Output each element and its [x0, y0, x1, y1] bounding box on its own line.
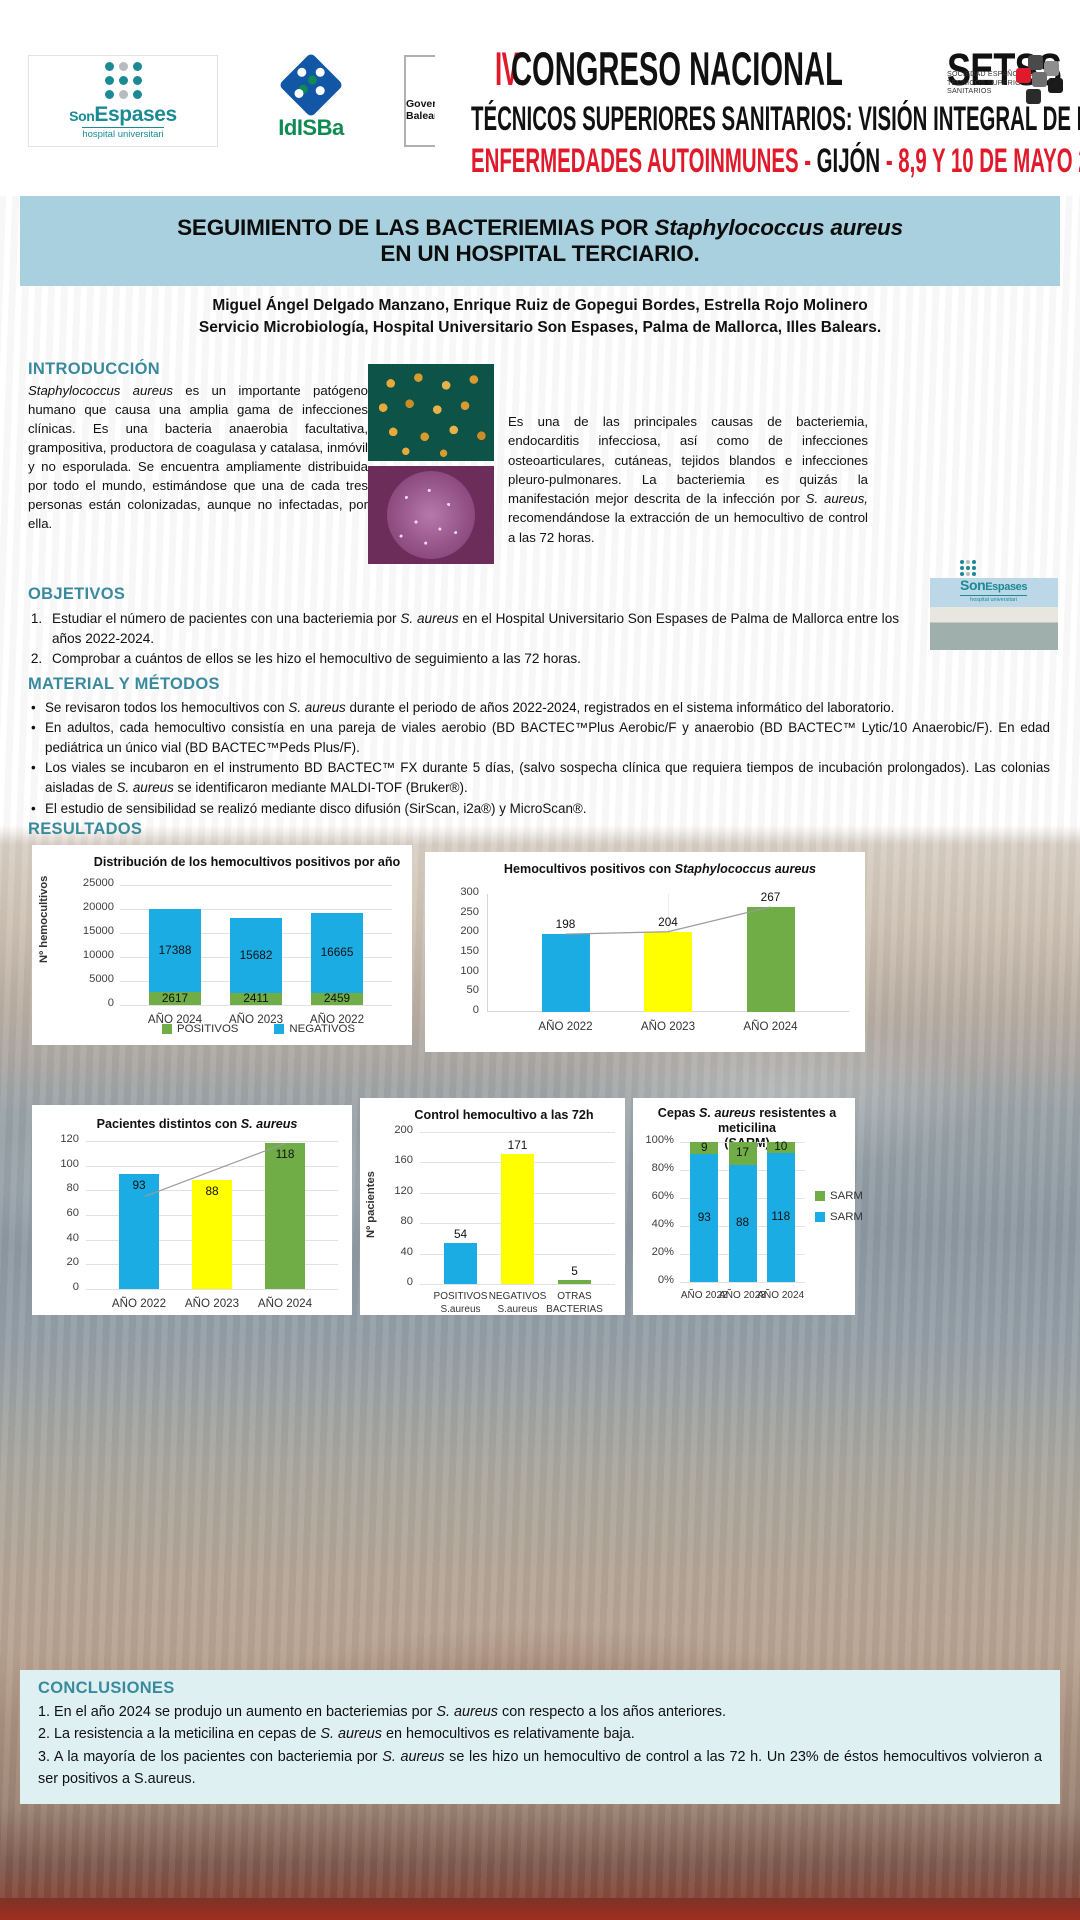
congress-city: GIJÓN	[817, 142, 880, 180]
chart5-xtick: AÑO 2024	[755, 1290, 807, 1301]
logo-son-espases: SonEspases hospital universitari	[28, 55, 218, 147]
chart5-value-sarm: 10	[767, 1139, 795, 1153]
chart5-value-sensible: 88	[729, 1215, 757, 1229]
page-title-line1: SEGUIMIENTO DE LAS BACTERIEMIAS POR Stap…	[177, 215, 903, 241]
idisba-wordmark: IdISBa	[278, 115, 343, 141]
chart5-bar-sensible: 118	[767, 1153, 795, 1282]
chart5-bar-sarm: 17	[729, 1142, 757, 1165]
congress-dates: - 8,9 Y 10 DE MAYO 2025	[880, 142, 1080, 180]
chart4-ytick: 0	[379, 1276, 413, 1288]
section-objetivos: OBJETIVOS Estudiar el número de paciente…	[28, 585, 928, 669]
conclusiones-list: 1. En el año 2024 se produjo un aumento …	[38, 1701, 1042, 1790]
material-item-4: El estudio de sensibilidad se realizó me…	[28, 799, 1050, 819]
chart5-bar-sensible: 93	[690, 1154, 718, 1282]
chart1-bar-negativos: 17388	[149, 909, 201, 992]
chart-cepas-sarm: Cepas S. aureus resistentes a meticilina…	[633, 1098, 855, 1315]
chart3-xtick: AÑO 2022	[103, 1297, 175, 1310]
chart1-value-positivos: 2617	[149, 991, 201, 1005]
authors-block: Miguel Ángel Delgado Manzano, Enrique Ru…	[20, 295, 1060, 340]
chart3-gridline	[86, 1289, 338, 1290]
congress-banner: IV CONGRESO NACIONAL SETSS SOCIEDAD ESPA…	[435, 25, 1080, 196]
chart5-ytick: 0%	[634, 1274, 674, 1286]
chart1-bar-positivos: 2459	[311, 993, 363, 1005]
chart1-ytick: 0	[54, 997, 114, 1009]
chart4-gridline	[420, 1284, 615, 1285]
material-item-3: Los viales se incubaron en el instrument…	[28, 758, 1050, 798]
author-affiliation: Servicio Microbiología, Hospital Univers…	[20, 317, 1060, 339]
chart-pacientes-distintos: Pacientes distintos con S. aureus 020406…	[32, 1105, 352, 1315]
chart5-value-sarm: 17	[729, 1145, 757, 1159]
chart2-plot: 050100150200250300198AÑO 2022204AÑO 2023…	[487, 894, 849, 1012]
material-list: Se revisaron todos los hemocultivos con …	[28, 698, 1050, 819]
material-item-2: En adultos, cada hemocultivo consistía e…	[28, 718, 1050, 758]
chart-control-hemocultivo-72h: Control hemocultivo a las 72h Nº pacient…	[360, 1098, 625, 1315]
chart2-xtick: AÑO 2022	[526, 1020, 606, 1033]
chart5-bar-sarm: 10	[767, 1142, 795, 1153]
chart4-xtick-line1: POSITIVOS	[428, 1291, 493, 1304]
chart2-xtick: AÑO 2023	[628, 1020, 708, 1033]
chart-hemocultivos-positivos-saureus: Hemocultivos positivos con Staphylococcu…	[425, 852, 865, 1052]
chart1-ytick: 15000	[54, 925, 114, 937]
idisba-diamond-icon	[278, 52, 343, 117]
chart4-value: 171	[491, 1138, 544, 1152]
chart5-legend-sarm-blue: SARM	[815, 1211, 863, 1223]
chart5-ytick: 80%	[634, 1162, 674, 1174]
material-item-1: Se revisaron todos los hemocultivos con …	[28, 698, 1050, 718]
congress-venue-line: ENFERMEDADES AUTOINMUNES - GIJÓN - 8,9 Y…	[435, 142, 822, 181]
introduccion-left-text: Staphylococcus aureus es un importante p…	[28, 381, 368, 533]
chart3-xtick: AÑO 2023	[176, 1297, 248, 1310]
son-espases-dots-icon	[105, 62, 142, 99]
hospital-overlay-wordmark: SonEspases	[960, 578, 1027, 593]
chart3-ytick: 60	[43, 1207, 79, 1219]
chart1-bar-negativos: 15682	[230, 918, 282, 993]
micrograph-staphylococcus-image	[368, 364, 494, 461]
chart1-legend: POSITIVOS NEGATIVOS	[162, 1023, 355, 1035]
chart4-xtick-line2: BACTERIAS	[542, 1304, 607, 1317]
chart2-ytick: 50	[439, 984, 479, 996]
chart1-plot: 0500010000150002000025000261717388AÑO 20…	[120, 885, 392, 1005]
objetivo-item-1: Estudiar el número de pacientes con una …	[46, 609, 928, 649]
chart5-legend-sarm-green: SARM	[815, 1190, 863, 1202]
objetivos-list: Estudiar el número de pacientes con una …	[46, 609, 928, 669]
petri-dish	[387, 471, 475, 559]
chart1-value-negativos: 16665	[311, 945, 363, 959]
congress-headline-row: IV CONGRESO NACIONAL SETSS SOCIEDAD ESPA…	[435, 25, 1080, 96]
section-material-metodos: MATERIAL Y MÉTODOS Se revisaron todos lo…	[28, 675, 1050, 819]
chart2-trendline	[487, 894, 849, 1012]
chart5-value-sarm: 9	[690, 1140, 718, 1154]
chart5-bar-sensible: 88	[729, 1165, 757, 1282]
chart4-bar	[501, 1154, 534, 1284]
chart3-ytick: 120	[43, 1133, 79, 1145]
chart4-xtick-line2: S.aureus	[428, 1304, 493, 1317]
section-introduccion: INTRODUCCIÓN Staphylococcus aureus es un…	[28, 360, 368, 533]
chart2-ytick: 0	[439, 1004, 479, 1016]
son-espases-word-espases: Espases	[94, 103, 176, 126]
chart4-xtick-line2: S.aureus	[485, 1304, 550, 1317]
section-conclusiones: CONCLUSIONES 1. En el año 2024 se produj…	[20, 1670, 1060, 1804]
chart1-ytick: 25000	[54, 877, 114, 889]
chart2-ytick: 200	[439, 925, 479, 937]
heading-objetivos: OBJETIVOS	[28, 585, 928, 604]
chart1-gridline	[120, 885, 392, 886]
author-names: Miguel Ángel Delgado Manzano, Enrique Ru…	[20, 295, 1060, 317]
chart2-ytick: 250	[439, 906, 479, 918]
chart4-bar	[444, 1243, 477, 1284]
chart1-value-negativos: 15682	[230, 948, 282, 962]
header-band: SonEspases hospital universitari IdISBa …	[0, 0, 1080, 196]
conclusion-item-2: 2. La resistencia a la meticilina en cep…	[38, 1723, 1042, 1745]
chart5-ytick: 60%	[634, 1190, 674, 1202]
introduccion-right-text: Es una de las principales causas de bact…	[508, 412, 868, 547]
congress-name: CONGRESO NACIONAL	[511, 41, 843, 96]
bottom-accent-strip	[0, 1898, 1080, 1920]
chart4-ytick: 40	[379, 1246, 413, 1258]
chart-distribucion-hemocultivos: Distribución de los hemocultivos positiv…	[32, 845, 412, 1045]
chart3-ytick: 40	[43, 1232, 79, 1244]
chart1-ytick: 20000	[54, 901, 114, 913]
chart4-bar	[558, 1280, 591, 1284]
chart4-value: 54	[434, 1227, 487, 1241]
chart1-ytick: 5000	[54, 973, 114, 985]
page-title-line2: EN UN HOSPITAL TERCIARIO.	[380, 241, 699, 267]
son-espases-wordmark: SonEspases	[69, 104, 177, 125]
objetivo-item-2: Comprobar a cuántos de ellos se les hizo…	[46, 649, 928, 669]
heading-material-metodos: MATERIAL Y MÉTODOS	[28, 675, 1050, 694]
son-espases-word-son: Son	[69, 108, 94, 124]
chart3-ytick: 0	[43, 1281, 79, 1293]
chart1-legend-positivos: POSITIVOS	[162, 1023, 238, 1035]
chart1-value-negativos: 17388	[149, 943, 201, 957]
chart1-title: Distribución de los hemocultivos positiv…	[92, 855, 402, 870]
congress-theme-line: TÉCNICOS SUPERIORES SANITARIOS: VISIÓN I…	[435, 100, 822, 139]
chart1-legend-negativos: NEGATIVOS	[274, 1023, 355, 1035]
poster-title-band: SEGUIMIENTO DE LAS BACTERIEMIAS POR Stap…	[20, 196, 1060, 286]
hospital-photo-logo-overlay: SonEspases hospital universitari	[960, 560, 1027, 603]
agar-plate-culture-image	[368, 466, 494, 564]
chart5-ytick: 40%	[634, 1218, 674, 1230]
chart4-ylabel: Nº pacientes	[365, 1171, 377, 1238]
hospital-overlay-subtitle: hospital universitari	[960, 595, 1027, 603]
chart4-plot: 0408012016020054POSITIVOSS.aureus171NEGA…	[420, 1132, 615, 1284]
chart4-xtick: OTRASBACTERIAS	[542, 1291, 607, 1316]
chart1-bar-positivos: 2411	[230, 993, 282, 1005]
chart4-xtick: POSITIVOSS.aureus	[428, 1291, 493, 1316]
chart1-bar-negativos: 16665	[311, 913, 363, 993]
chart1-ylabel: Nº hemocultivos	[38, 876, 50, 963]
chart1-bar-positivos: 2617	[149, 992, 201, 1005]
son-espases-subtitle: hospital universitari	[82, 127, 163, 140]
chart5-legend: SARM SARM	[815, 1190, 863, 1223]
chart5-bar-sarm: 9	[690, 1142, 718, 1154]
heading-introduccion: INTRODUCCIÓN	[28, 360, 368, 379]
chart3-title: Pacientes distintos con S. aureus	[62, 1117, 332, 1132]
chart3-ytick: 80	[43, 1182, 79, 1194]
chart3-ytick: 100	[43, 1158, 79, 1170]
heading-resultados: RESULTADOS	[28, 820, 142, 839]
chart3-trendline	[86, 1141, 338, 1289]
chart4-xtick: NEGATIVOSS.aureus	[485, 1291, 550, 1316]
logo-idisba: IdISBa	[256, 55, 366, 147]
heading-conclusiones: CONCLUSIONES	[38, 1679, 1042, 1698]
chart5-value-sensible: 93	[690, 1210, 718, 1224]
chart4-title: Control hemocultivo a las 72h	[390, 1108, 618, 1123]
conclusion-item-1: 1. En el año 2024 se produjo un aumento …	[38, 1701, 1042, 1723]
chart4-xtick-line1: OTRAS	[542, 1291, 607, 1304]
chart2-xtick: AÑO 2024	[731, 1020, 811, 1033]
chart2-title: Hemocultivos positivos con Staphylococcu…	[475, 862, 845, 877]
chart4-ytick: 80	[379, 1215, 413, 1227]
chart5-gridline	[680, 1282, 805, 1283]
chart1-ytick: 10000	[54, 949, 114, 961]
son-espases-dots-icon-small	[960, 560, 1027, 576]
chart3-ytick: 20	[43, 1256, 79, 1268]
conclusion-item-3: 3. A la mayoría de los pacientes con bac…	[38, 1746, 1042, 1791]
chart3-xtick: AÑO 2024	[249, 1297, 321, 1310]
title-species-name: Staphylococcus aureus	[655, 215, 903, 240]
intro-species-name: Staphylococcus aureus	[28, 383, 173, 398]
chart4-ytick: 120	[379, 1185, 413, 1197]
chart5-value-sensible: 118	[767, 1209, 795, 1223]
chart4-xtick-line1: NEGATIVOS	[485, 1291, 550, 1304]
chart1-value-positivos: 2459	[311, 991, 363, 1005]
chart4-value: 5	[548, 1264, 601, 1278]
chart3-plot: 02040608010012093AÑO 202288AÑO 2023118AÑ…	[86, 1141, 338, 1289]
chart4-ytick: 160	[379, 1154, 413, 1166]
chart2-ytick: 150	[439, 945, 479, 957]
chart2-ytick: 300	[439, 886, 479, 898]
chart4-ytick: 200	[379, 1124, 413, 1136]
chart5-ytick: 100%	[634, 1134, 674, 1146]
chart2-ytick: 100	[439, 965, 479, 977]
chart5-ytick: 20%	[634, 1246, 674, 1258]
chart5-plot: 0%20%40%60%80%100%939AÑO 20228817AÑO 202…	[680, 1142, 805, 1282]
chart4-gridline	[420, 1132, 615, 1133]
